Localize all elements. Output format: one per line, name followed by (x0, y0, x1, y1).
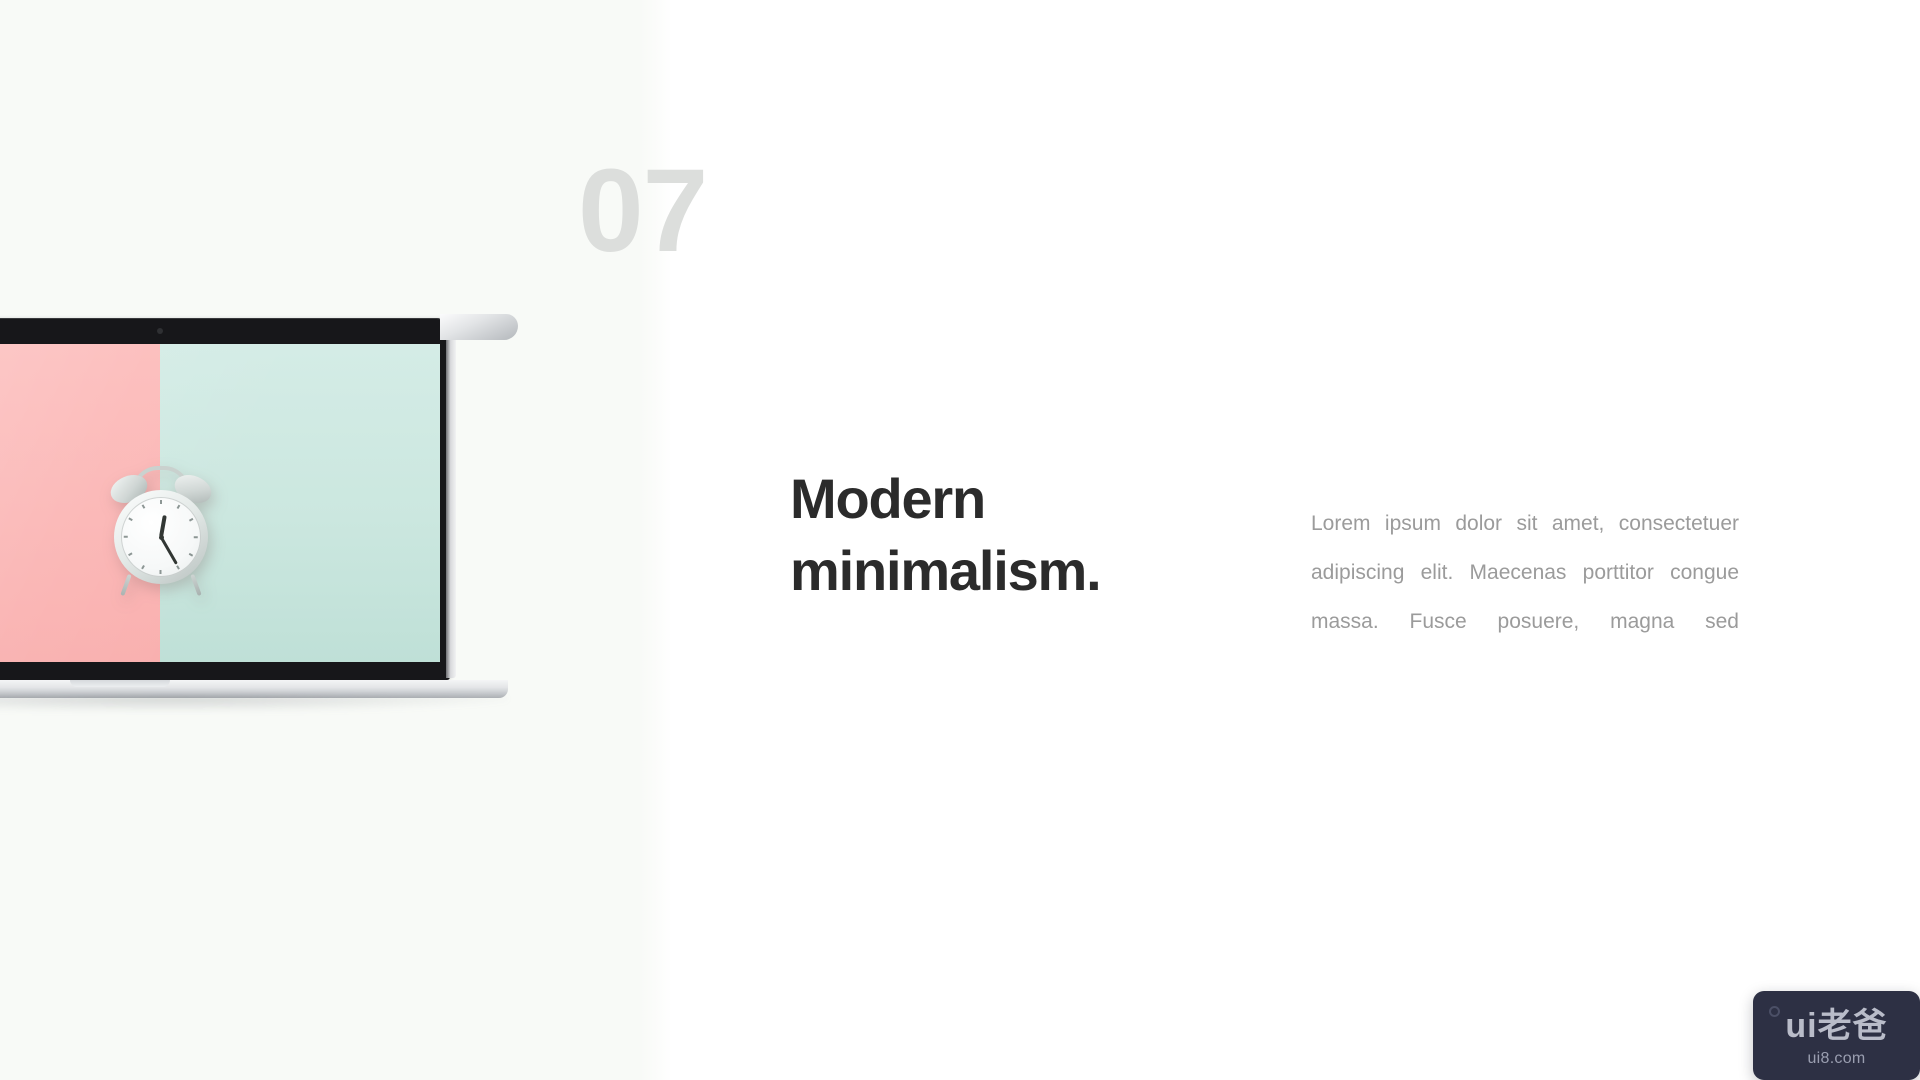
laptop-lid (0, 318, 450, 680)
clock-foot-right (190, 574, 201, 596)
section-number: 07 (578, 152, 707, 270)
laptop-base-notch (70, 680, 170, 687)
clock-hour-hand (159, 515, 166, 537)
watermark-url: ui8.com (1753, 1051, 1920, 1067)
body-paragraph: Lorem ipsum dolor sit amet, consectetuer… (1311, 499, 1739, 695)
slide-canvas: 07 (0, 0, 1920, 1080)
webcam-icon (157, 328, 163, 334)
clock-face (121, 497, 201, 577)
laptop-drop-shadow (0, 696, 508, 712)
headline: Modern minimalism. (790, 463, 1260, 606)
alarm-clock-icon (102, 462, 220, 600)
laptop-lid-edge (446, 320, 456, 678)
laptop-mockup (0, 318, 520, 738)
watermark-badge: ui老爸 ui8.com (1753, 991, 1920, 1080)
clock-foot-left (120, 574, 131, 596)
watermark-logo: ui老爸 (1753, 1009, 1920, 1043)
laptop-screen (0, 344, 440, 662)
clock-body (114, 490, 208, 584)
laptop-base-right-cap (440, 314, 518, 340)
clock-center-pin (159, 535, 164, 540)
clock-minute-hand (160, 536, 178, 564)
